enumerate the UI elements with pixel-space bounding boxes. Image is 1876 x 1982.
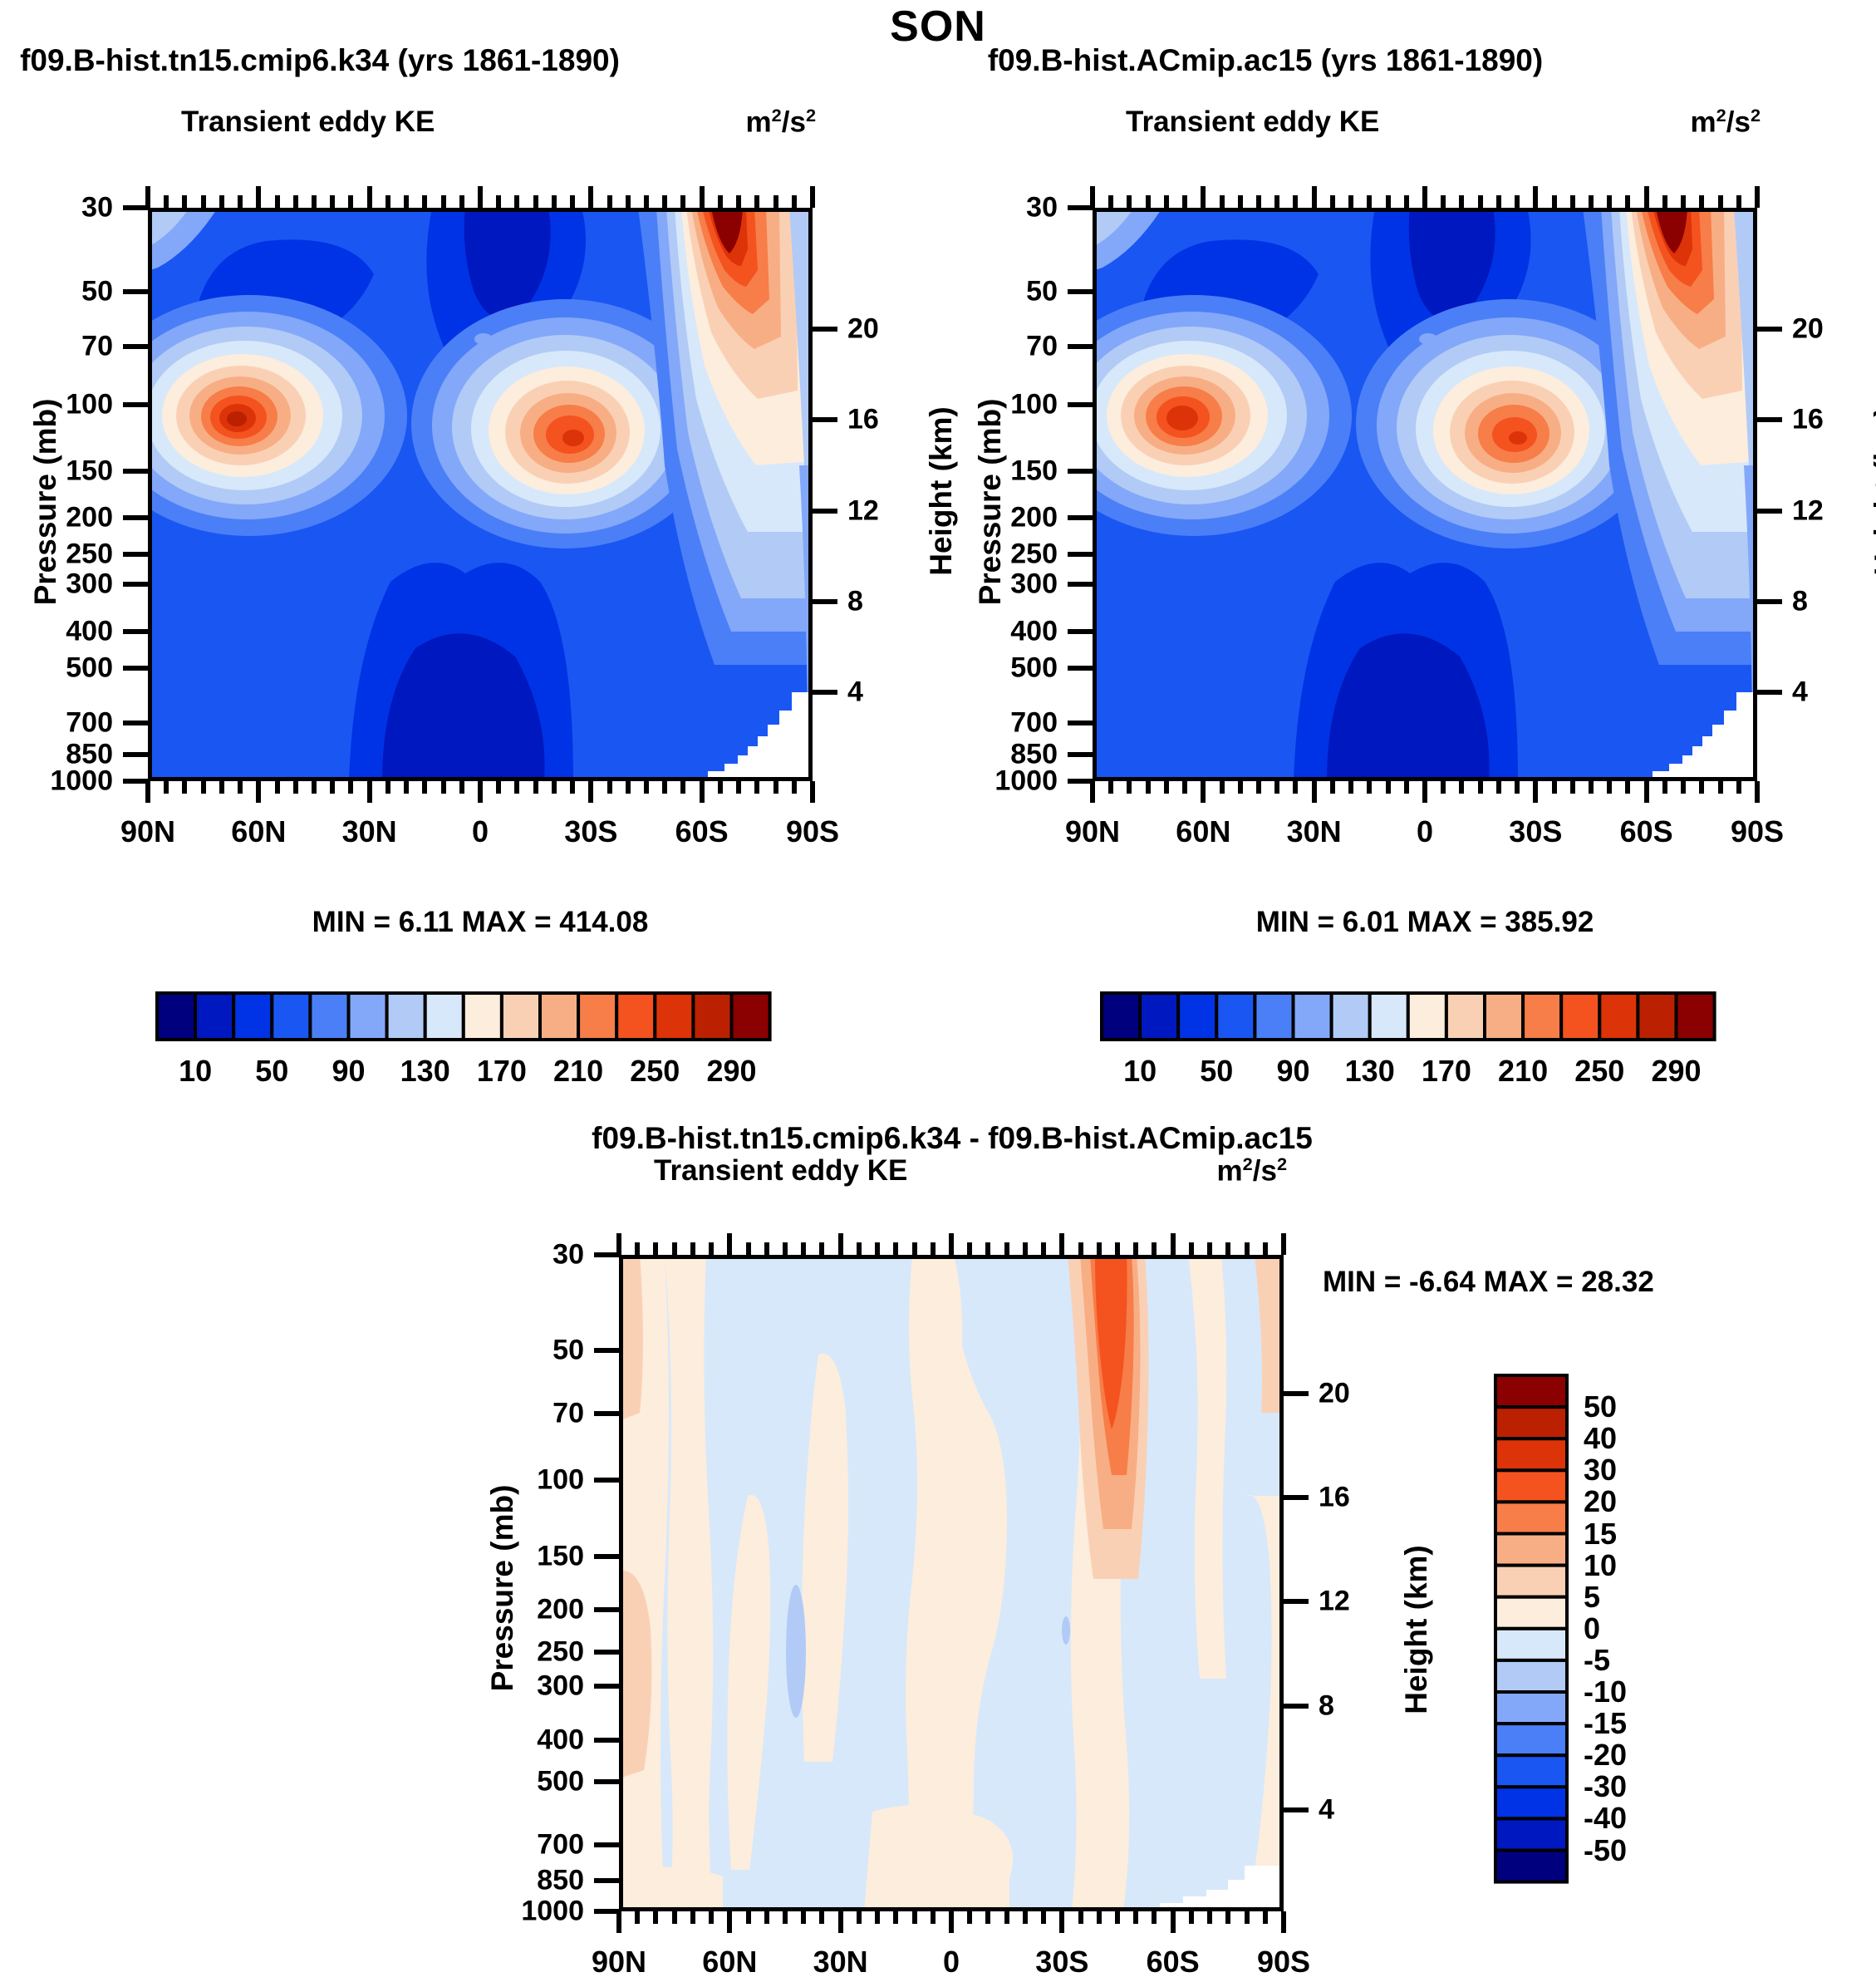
lat-minor-tick-top-left-32: [736, 195, 741, 208]
lat-minor-tick-top-left-25: [607, 195, 612, 208]
lat-tick-label-right-5: 60S: [1620, 814, 1673, 849]
lat-major-tick-bottom-left-24: [588, 781, 593, 803]
lat-tick-label-left-3: 0: [472, 814, 489, 849]
colorbar-label-left-2: 90: [331, 1054, 365, 1089]
lat-minor-tick-top-diff-15: [893, 1242, 898, 1255]
pressure-tick-label-diff-3: 100: [537, 1464, 584, 1497]
lat-minor-tick-top-right-13: [1330, 195, 1335, 208]
lat-tick-label-diff-6: 90S: [1257, 1945, 1310, 1980]
diff-colorbar-label-11: -20: [1584, 1738, 1627, 1773]
lat-minor-tick-top-left-27: [644, 195, 649, 208]
lat-minor-tick-bottom-left-3: [201, 781, 206, 794]
lat-minor-tick-bottom-left-27: [644, 781, 649, 794]
pressure-tick-right-5: [1068, 515, 1093, 520]
height-tick-diff-2: [1284, 1599, 1309, 1604]
diff-panel-field-label: Transient eddy KE: [654, 1154, 907, 1188]
lat-minor-tick-bottom-right-34: [1718, 781, 1723, 794]
height-tick-label-diff-4: 4: [1319, 1793, 1334, 1826]
lat-minor-tick-top-diff-32: [1207, 1242, 1212, 1255]
lat-minor-tick-top-diff-16: [912, 1242, 917, 1255]
pressure-tick-diff-9: [594, 1779, 619, 1784]
lat-minor-tick-top-right-29: [1625, 195, 1630, 208]
lat-minor-tick-bottom-right-8: [1238, 781, 1243, 794]
pressure-tick-label-left-6: 250: [66, 539, 113, 571]
lat-minor-tick-bottom-diff-26: [1097, 1911, 1102, 1924]
lat-minor-tick-top-diff-35: [1263, 1242, 1268, 1255]
pressure-tick-label-diff-1: 50: [552, 1335, 584, 1367]
lat-minor-tick-bottom-right-3: [1146, 781, 1151, 794]
colorbar-label-right-4: 170: [1422, 1054, 1471, 1089]
pressure-tick-diff-11: [594, 1878, 619, 1883]
lat-minor-tick-bottom-right-13: [1330, 781, 1335, 794]
left-colorbar-swatches: [157, 993, 770, 1040]
lat-major-tick-bottom-left-36: [810, 781, 815, 803]
diff-colorbar-label-10: -15: [1584, 1706, 1627, 1741]
right-panel-contour-field: [1036, 208, 1757, 781]
height-tick-label-diff-2: 12: [1319, 1586, 1350, 1618]
lat-minor-tick-top-diff-20: [985, 1242, 990, 1255]
lat-minor-tick-top-left-17: [459, 195, 464, 208]
lat-minor-tick-bottom-left-2: [182, 781, 187, 794]
lat-major-tick-bottom-left-6: [256, 781, 261, 803]
pressure-tick-diff-6: [594, 1650, 619, 1655]
height-tick-diff-4: [1284, 1807, 1309, 1812]
lat-minor-tick-top-right-10: [1274, 195, 1279, 208]
pressure-tick-diff-12: [594, 1909, 619, 1914]
lat-major-tick-top-right-18: [1422, 186, 1427, 208]
diff-colorbar-label-13: -40: [1584, 1801, 1627, 1836]
lat-minor-tick-top-right-21: [1478, 195, 1483, 208]
height-tick-left-2: [813, 509, 837, 514]
lat-major-tick-bottom-diff-12: [838, 1911, 843, 1933]
pressure-tick-label-diff-6: 250: [537, 1635, 584, 1668]
lat-minor-tick-top-left-35: [792, 195, 797, 208]
lat-minor-tick-top-diff-31: [1189, 1242, 1194, 1255]
lat-minor-tick-top-diff-25: [1078, 1242, 1083, 1255]
height-tick-label-right-4: 4: [1792, 676, 1808, 709]
lat-minor-tick-top-right-7: [1220, 195, 1225, 208]
diff-panel-minmax: MIN = -6.64 MAX = 28.32: [1323, 1266, 1654, 1299]
lat-minor-tick-bottom-right-25: [1552, 781, 1557, 794]
diff-colorbar-label-8: -5: [1584, 1643, 1610, 1678]
pressure-tick-label-right-1: 50: [1026, 275, 1058, 307]
lat-minor-tick-top-right-2: [1127, 195, 1132, 208]
lat-minor-tick-top-left-22: [552, 195, 557, 208]
left-panel-minmax: MIN = 6.11 MAX = 414.08: [312, 906, 649, 939]
lat-minor-tick-bottom-diff-15: [893, 1911, 898, 1924]
pressure-tick-label-left-12: 1000: [50, 765, 113, 798]
height-tick-label-diff-3: 8: [1319, 1689, 1334, 1722]
lat-minor-tick-top-left-3: [201, 195, 206, 208]
pressure-tick-diff-3: [594, 1478, 619, 1483]
lat-tick-label-left-1: 60N: [231, 814, 286, 849]
diff-panel-title: f09.B-hist.tn15.cmip6.k34 - f09.B-hist.A…: [592, 1121, 1313, 1156]
lat-major-tick-top-diff-24: [1059, 1233, 1064, 1255]
lat-minor-tick-bottom-right-28: [1607, 781, 1612, 794]
pressure-tick-label-diff-4: 150: [537, 1540, 584, 1572]
pressure-tick-label-left-8: 400: [66, 615, 113, 647]
height-tick-right-1: [1757, 417, 1782, 422]
diff-colorbar-swatches: [1495, 1375, 1567, 1882]
pressure-tick-left-10: [123, 721, 148, 725]
colorbar-label-right-0: 10: [1123, 1054, 1157, 1089]
lat-major-tick-top-diff-36: [1281, 1233, 1286, 1255]
lat-tick-label-diff-4: 30S: [1035, 1945, 1088, 1980]
height-tick-diff-0: [1284, 1391, 1309, 1396]
pressure-tick-label-diff-12: 1000: [521, 1896, 584, 1928]
lat-minor-tick-bottom-left-11: [348, 781, 353, 794]
lat-minor-tick-top-right-22: [1496, 195, 1501, 208]
lat-major-tick-top-left-36: [810, 186, 815, 208]
diff-panel-units: m2/s2: [1217, 1153, 1287, 1188]
lat-minor-tick-bottom-diff-22: [1023, 1911, 1028, 1924]
lat-minor-tick-top-diff-33: [1225, 1242, 1230, 1255]
lat-major-tick-top-left-6: [256, 186, 261, 208]
lat-major-tick-top-diff-30: [1171, 1233, 1176, 1255]
left-panel-field-label: Transient eddy KE: [181, 106, 435, 139]
pressure-tick-label-diff-0: 30: [552, 1239, 584, 1271]
pressure-tick-right-2: [1068, 344, 1093, 349]
lat-minor-tick-top-left-34: [773, 195, 778, 208]
pressure-tick-label-diff-2: 70: [552, 1397, 584, 1429]
lat-minor-tick-bottom-right-2: [1127, 781, 1132, 794]
lat-minor-tick-top-left-20: [514, 195, 519, 208]
lat-minor-tick-top-left-33: [754, 195, 759, 208]
diff-colorbar-label-0: 50: [1584, 1389, 1617, 1424]
diff-colorbar-label-7: 0: [1584, 1611, 1600, 1646]
lat-minor-tick-bottom-diff-7: [746, 1911, 751, 1924]
lat-minor-tick-bottom-left-33: [754, 781, 759, 794]
left-panel-units: m2/s2: [746, 105, 816, 140]
lat-minor-tick-bottom-left-14: [404, 781, 409, 794]
lat-minor-tick-bottom-diff-3: [672, 1911, 677, 1924]
lat-minor-tick-top-diff-9: [783, 1242, 788, 1255]
pressure-tick-right-0: [1068, 205, 1093, 210]
lat-minor-tick-bottom-diff-4: [690, 1911, 695, 1924]
lat-minor-tick-bottom-left-5: [238, 781, 243, 794]
lat-minor-tick-bottom-right-31: [1662, 781, 1667, 794]
lat-minor-tick-bottom-right-16: [1386, 781, 1391, 794]
pressure-tick-label-left-3: 100: [66, 388, 113, 420]
height-tick-right-0: [1757, 327, 1782, 332]
height-tick-label-left-1: 16: [847, 404, 879, 436]
lat-major-tick-top-left-18: [478, 186, 483, 208]
lat-minor-tick-top-diff-21: [1004, 1242, 1009, 1255]
pressure-tick-label-right-6: 250: [1010, 539, 1058, 571]
lat-major-tick-bottom-diff-36: [1281, 1911, 1286, 1933]
lat-minor-tick-bottom-diff-29: [1152, 1911, 1157, 1924]
right-panel-units: m2/s2: [1691, 105, 1761, 140]
colorbar-label-right-1: 50: [1200, 1054, 1233, 1089]
pressure-tick-diff-5: [594, 1607, 619, 1612]
lat-minor-tick-top-diff-22: [1023, 1242, 1028, 1255]
lat-minor-tick-top-diff-19: [967, 1242, 972, 1255]
lat-major-tick-bottom-diff-24: [1059, 1911, 1064, 1933]
lat-minor-tick-bottom-left-13: [386, 781, 390, 794]
pressure-tick-label-right-8: 400: [1010, 615, 1058, 647]
height-tick-diff-1: [1284, 1495, 1309, 1500]
lat-minor-tick-bottom-diff-35: [1263, 1911, 1268, 1924]
pressure-tick-label-right-9: 500: [1010, 652, 1058, 684]
lat-tick-label-right-4: 30S: [1509, 814, 1562, 849]
lat-minor-tick-top-left-14: [404, 195, 409, 208]
lat-minor-tick-top-diff-26: [1097, 1242, 1102, 1255]
pressure-tick-label-left-4: 150: [66, 455, 113, 487]
lat-minor-tick-bottom-right-5: [1182, 781, 1187, 794]
pressure-tick-label-left-9: 500: [66, 652, 113, 684]
lat-minor-tick-top-right-17: [1404, 195, 1409, 208]
diff-colorbar-label-6: 5: [1584, 1580, 1600, 1615]
lat-minor-tick-top-left-23: [570, 195, 575, 208]
pressure-tick-label-right-2: 70: [1026, 330, 1058, 362]
lat-minor-tick-top-diff-4: [690, 1242, 695, 1255]
lat-tick-label-diff-0: 90N: [592, 1945, 646, 1980]
lat-major-tick-top-diff-12: [838, 1233, 843, 1255]
lat-minor-tick-bottom-diff-2: [653, 1911, 658, 1924]
lat-minor-tick-bottom-diff-21: [1004, 1911, 1009, 1924]
height-tick-label-diff-0: 20: [1319, 1378, 1350, 1410]
lat-minor-tick-top-diff-8: [764, 1242, 769, 1255]
lat-minor-tick-bottom-left-23: [570, 781, 575, 794]
pressure-tick-label-diff-5: 200: [537, 1594, 584, 1626]
lat-minor-tick-bottom-diff-14: [875, 1911, 880, 1924]
lat-minor-tick-bottom-left-7: [275, 781, 280, 794]
lat-minor-tick-top-right-34: [1718, 195, 1723, 208]
pressure-tick-label-left-0: 30: [81, 192, 113, 224]
right-colorbar-swatches: [1102, 993, 1715, 1040]
diff-panel-contour-field: [619, 1255, 1284, 1911]
lat-minor-tick-top-left-2: [182, 195, 187, 208]
lat-minor-tick-bottom-right-33: [1699, 781, 1704, 794]
lat-major-tick-top-right-24: [1533, 186, 1538, 208]
lat-major-tick-top-diff-0: [616, 1233, 621, 1255]
pressure-tick-label-right-12: 1000: [994, 765, 1058, 798]
diff-colorbar-label-1: 40: [1584, 1421, 1617, 1456]
lat-minor-tick-top-right-14: [1348, 195, 1353, 208]
lat-minor-tick-bottom-left-25: [607, 781, 612, 794]
pressure-tick-right-12: [1068, 779, 1093, 784]
lat-minor-tick-top-diff-5: [709, 1242, 714, 1255]
pressure-tick-label-right-10: 700: [1010, 706, 1058, 739]
right-panel-y2label: Height (km): [1869, 366, 1876, 616]
lat-minor-tick-bottom-right-10: [1274, 781, 1279, 794]
pressure-tick-left-4: [123, 469, 148, 474]
height-tick-left-1: [813, 417, 837, 422]
height-tick-left-0: [813, 327, 837, 332]
figure-canvas: SON: [0, 0, 1876, 1982]
nh-jet-core: [91, 295, 407, 536]
lat-minor-tick-top-diff-13: [857, 1242, 862, 1255]
pressure-tick-left-2: [123, 344, 148, 349]
lat-minor-tick-bottom-left-10: [330, 781, 335, 794]
height-tick-right-2: [1757, 509, 1782, 514]
pressure-tick-right-3: [1068, 402, 1093, 407]
pressure-tick-label-diff-7: 300: [537, 1670, 584, 1702]
pressure-tick-diff-7: [594, 1684, 619, 1689]
pressure-tick-left-12: [123, 779, 148, 784]
height-tick-label-right-3: 8: [1792, 585, 1808, 617]
height-tick-diff-3: [1284, 1704, 1309, 1709]
lat-major-tick-top-right-36: [1755, 186, 1760, 208]
lat-minor-tick-top-right-11: [1293, 195, 1298, 208]
diff-panel-y2label: Height (km): [1399, 1505, 1434, 1754]
lat-major-tick-bottom-right-6: [1201, 781, 1206, 803]
lat-minor-tick-top-right-32: [1681, 195, 1686, 208]
lat-major-tick-top-left-30: [700, 186, 705, 208]
pressure-tick-label-right-4: 150: [1010, 455, 1058, 487]
pressure-tick-diff-10: [594, 1842, 619, 1847]
pressure-tick-left-9: [123, 666, 148, 671]
lat-minor-tick-bottom-left-34: [773, 781, 778, 794]
lat-major-tick-bottom-right-30: [1644, 781, 1649, 803]
lat-minor-tick-bottom-diff-32: [1207, 1911, 1212, 1924]
lat-minor-tick-bottom-diff-20: [985, 1911, 990, 1924]
lat-minor-tick-bottom-right-14: [1348, 781, 1353, 794]
lat-major-tick-top-right-6: [1201, 186, 1206, 208]
lat-tick-label-right-0: 90N: [1065, 814, 1120, 849]
right-panel-field-label: Transient eddy KE: [1126, 106, 1379, 139]
pressure-tick-diff-8: [594, 1738, 619, 1743]
lat-minor-tick-bottom-right-1: [1108, 781, 1113, 794]
pressure-tick-left-3: [123, 402, 148, 407]
pressure-tick-right-8: [1068, 629, 1093, 634]
lat-minor-tick-bottom-diff-27: [1115, 1911, 1120, 1924]
diff-colorbar-label-12: -30: [1584, 1769, 1627, 1804]
lat-minor-tick-top-left-1: [164, 195, 169, 208]
lat-minor-tick-top-right-33: [1699, 195, 1704, 208]
lat-minor-tick-bottom-diff-10: [801, 1911, 806, 1924]
pressure-tick-right-1: [1068, 289, 1093, 294]
lat-minor-tick-bottom-diff-23: [1041, 1911, 1046, 1924]
height-tick-left-3: [813, 599, 837, 604]
lat-minor-tick-top-diff-29: [1152, 1242, 1157, 1255]
lat-minor-tick-bottom-diff-1: [635, 1911, 640, 1924]
lat-major-tick-top-right-12: [1312, 186, 1317, 208]
lat-minor-tick-bottom-diff-31: [1189, 1911, 1194, 1924]
lat-minor-tick-top-left-31: [718, 195, 723, 208]
lat-major-tick-bottom-diff-0: [616, 1911, 621, 1933]
lat-major-tick-bottom-diff-6: [727, 1911, 732, 1933]
lat-minor-tick-bottom-right-32: [1681, 781, 1686, 794]
lat-minor-tick-top-left-19: [496, 195, 501, 208]
height-tick-label-right-0: 20: [1792, 312, 1824, 345]
nh-jet-core-right: [1036, 295, 1352, 536]
lat-minor-tick-top-diff-28: [1133, 1242, 1138, 1255]
lat-tick-label-diff-2: 30N: [813, 1945, 868, 1980]
right-panel-minmax: MIN = 6.01 MAX = 385.92: [1256, 906, 1594, 939]
lat-minor-tick-bottom-right-15: [1367, 781, 1372, 794]
lat-major-tick-bottom-right-0: [1090, 781, 1095, 803]
diff-panel-ylabel: Pressure (mb): [485, 1463, 520, 1713]
colorbar-label-left-7: 290: [706, 1054, 756, 1089]
pressure-tick-right-10: [1068, 721, 1093, 725]
colorbar-label-left-4: 170: [477, 1054, 527, 1089]
lat-minor-tick-top-left-7: [275, 195, 280, 208]
pressure-tick-label-left-10: 700: [66, 706, 113, 739]
lat-major-tick-bottom-diff-30: [1171, 1911, 1176, 1933]
lat-tick-label-right-1: 60N: [1176, 814, 1230, 849]
height-tick-label-left-4: 4: [847, 676, 863, 709]
pressure-tick-label-right-0: 30: [1026, 192, 1058, 224]
lat-minor-tick-top-right-9: [1256, 195, 1261, 208]
lat-tick-label-diff-3: 0: [943, 1945, 960, 1980]
lat-major-tick-top-right-30: [1644, 186, 1649, 208]
lat-minor-tick-bottom-right-9: [1256, 781, 1261, 794]
lat-minor-tick-bottom-diff-19: [967, 1911, 972, 1924]
lat-minor-tick-top-right-4: [1164, 195, 1169, 208]
pressure-tick-label-right-5: 200: [1010, 502, 1058, 534]
lat-minor-tick-bottom-left-21: [533, 781, 538, 794]
lat-tick-label-left-0: 90N: [120, 814, 175, 849]
pressure-tick-label-right-7: 300: [1010, 568, 1058, 601]
colorbar-label-left-1: 50: [255, 1054, 288, 1089]
lat-minor-tick-top-diff-11: [819, 1242, 824, 1255]
lat-minor-tick-top-left-4: [219, 195, 224, 208]
pressure-tick-label-diff-8: 400: [537, 1724, 584, 1756]
lat-minor-tick-top-diff-27: [1115, 1242, 1120, 1255]
lat-minor-tick-top-left-15: [422, 195, 427, 208]
pressure-tick-right-11: [1068, 752, 1093, 757]
lat-minor-tick-top-left-21: [533, 195, 538, 208]
lat-major-tick-bottom-diff-18: [949, 1911, 954, 1933]
diff-colorbar-label-2: 30: [1584, 1453, 1617, 1488]
lat-major-tick-bottom-right-24: [1533, 781, 1538, 803]
left-panel-contour-field: [91, 208, 813, 781]
lat-minor-tick-bottom-diff-33: [1225, 1911, 1230, 1924]
height-tick-label-left-0: 20: [847, 312, 879, 345]
left-panel-ylabel: Pressure (mb): [28, 377, 63, 627]
lat-minor-tick-top-right-15: [1367, 195, 1372, 208]
diff-colorbar-label-4: 15: [1584, 1517, 1617, 1552]
lat-minor-tick-bottom-right-20: [1459, 781, 1464, 794]
colorbar-label-left-6: 250: [630, 1054, 680, 1089]
lat-minor-tick-top-right-26: [1570, 195, 1575, 208]
lat-minor-tick-top-diff-3: [672, 1242, 677, 1255]
lat-minor-tick-top-right-35: [1736, 195, 1741, 208]
lat-minor-tick-top-diff-10: [801, 1242, 806, 1255]
diff-colorbar-label-5: 10: [1584, 1548, 1617, 1583]
lat-minor-tick-bottom-right-4: [1164, 781, 1169, 794]
lat-minor-tick-bottom-left-8: [293, 781, 298, 794]
pressure-tick-label-left-1: 50: [81, 275, 113, 307]
lat-minor-tick-bottom-diff-9: [783, 1911, 788, 1924]
lat-minor-tick-bottom-right-7: [1220, 781, 1225, 794]
lat-minor-tick-bottom-left-20: [514, 781, 519, 794]
lat-major-tick-top-left-0: [145, 186, 150, 208]
pressure-tick-right-6: [1068, 552, 1093, 557]
lat-minor-tick-bottom-left-31: [718, 781, 723, 794]
lat-minor-tick-bottom-diff-25: [1078, 1911, 1083, 1924]
lat-minor-tick-top-left-26: [626, 195, 631, 208]
lat-minor-tick-top-diff-2: [653, 1242, 658, 1255]
colorbar-label-left-3: 130: [400, 1054, 450, 1089]
height-tick-label-left-2: 12: [847, 494, 879, 527]
lat-major-tick-top-diff-18: [949, 1233, 954, 1255]
lat-minor-tick-top-right-5: [1182, 195, 1187, 208]
pressure-tick-right-9: [1068, 666, 1093, 671]
colorbar-label-right-5: 210: [1498, 1054, 1548, 1089]
left-panel-title: f09.B-hist.tn15.cmip6.k34 (yrs 1861-1890…: [20, 43, 620, 78]
pressure-tick-left-0: [123, 205, 148, 210]
lat-tick-label-diff-5: 60S: [1147, 1945, 1200, 1980]
pressure-tick-left-7: [123, 582, 148, 587]
lat-minor-tick-bottom-left-35: [792, 781, 797, 794]
pressure-tick-label-right-3: 100: [1010, 388, 1058, 420]
pressure-tick-label-diff-9: 500: [537, 1765, 584, 1798]
pressure-tick-label-diff-11: 850: [537, 1865, 584, 1897]
lat-minor-tick-bottom-right-23: [1515, 781, 1520, 794]
lat-minor-tick-top-right-25: [1552, 195, 1557, 208]
